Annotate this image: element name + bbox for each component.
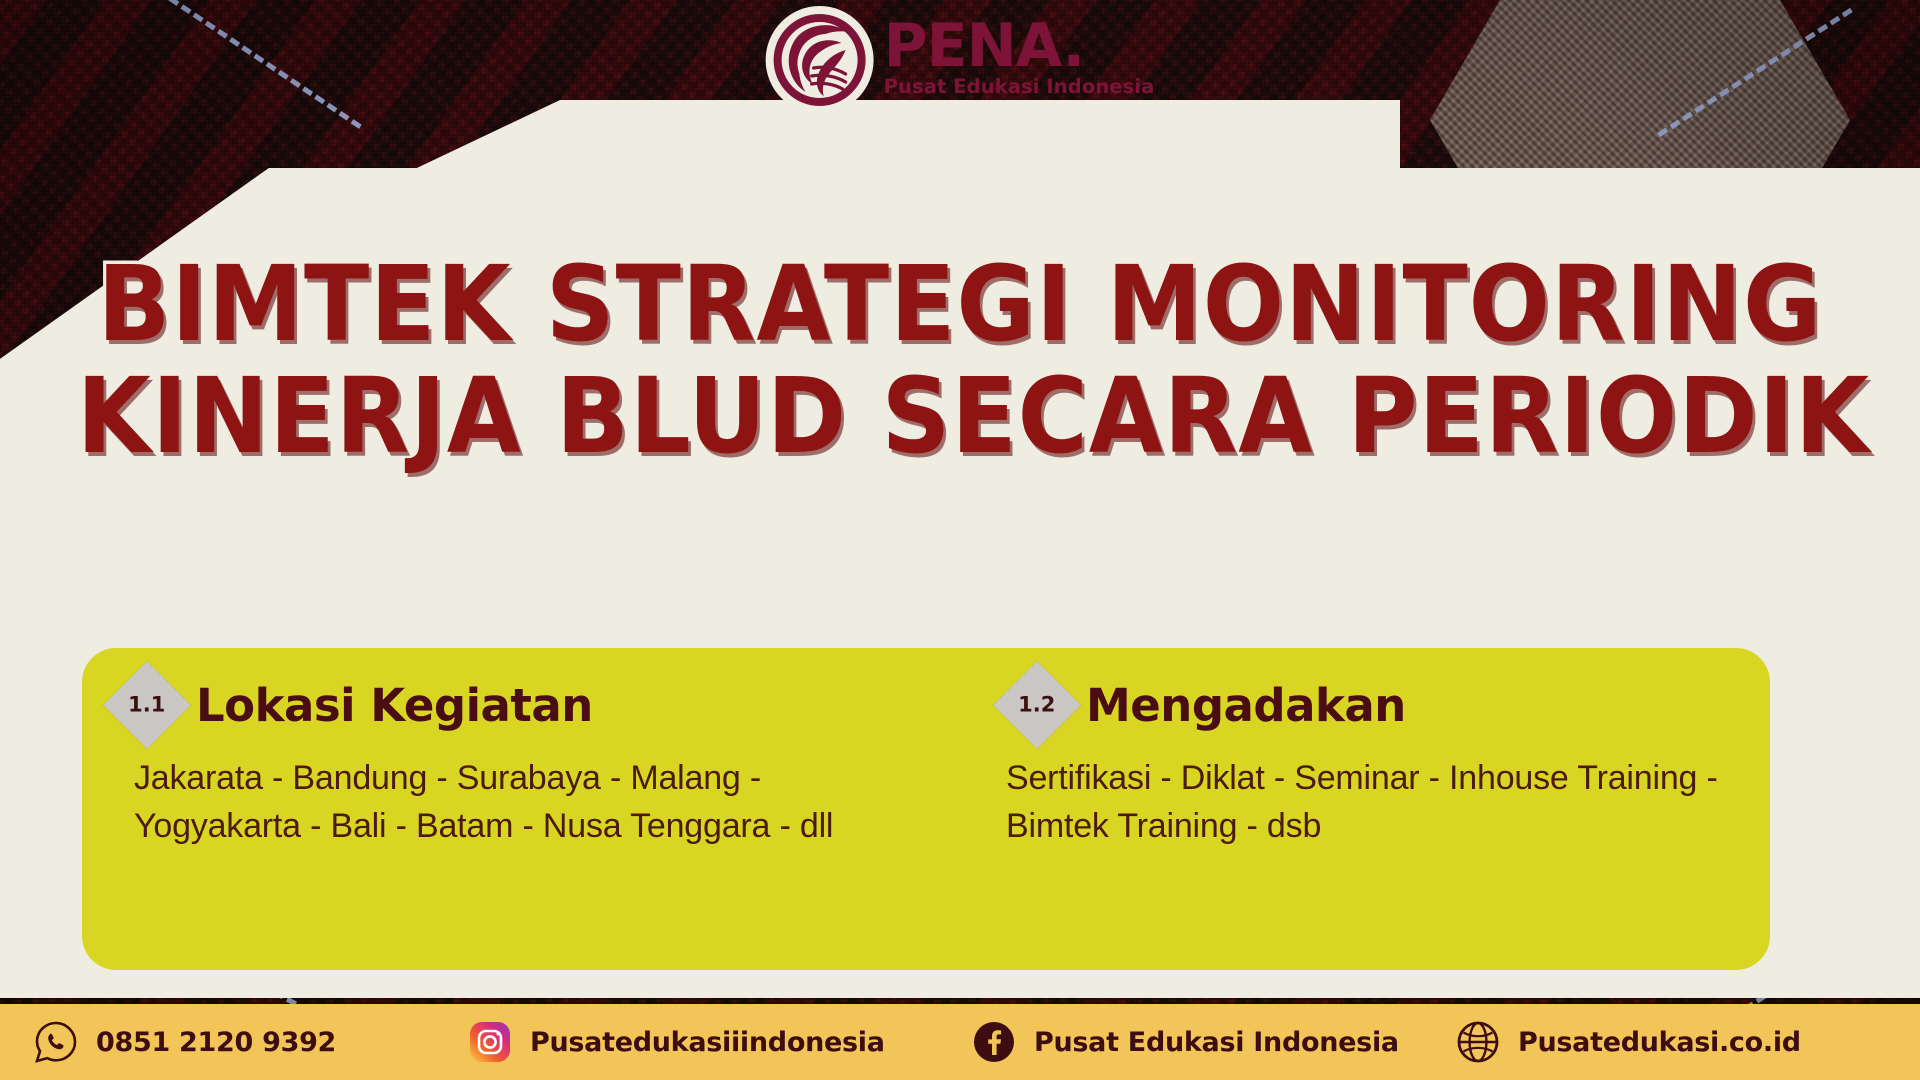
contact-whatsapp[interactable]: 0851 2120 9392 xyxy=(0,1020,434,1064)
contact-website[interactable]: Pusatedukasi.co.id xyxy=(1422,1020,1876,1064)
whatsapp-icon xyxy=(34,1020,78,1064)
globe-icon xyxy=(1456,1020,1500,1064)
info-column-mengadakan: 1.2 Mengadakan Sertifikasi - Diklat - Se… xyxy=(926,648,1770,970)
instagram-icon xyxy=(468,1020,512,1064)
contact-bar: 0851 2120 9392 Pusatedukasiiindonesia xyxy=(0,1004,1920,1080)
poster-canvas: PENA. Pusat Edukasi Indonesia BIMTEK STR… xyxy=(0,0,1920,1080)
info-column-body: Sertifikasi - Diklat - Seminar - Inhouse… xyxy=(1006,754,1736,851)
page-title: BIMTEK STRATEGI MONITORING KINERJA BLUD … xyxy=(0,252,1920,468)
contact-label: 0851 2120 9392 xyxy=(96,1027,336,1058)
contact-facebook[interactable]: Pusat Edukasi Indonesia xyxy=(938,1020,1422,1064)
contact-label: Pusatedukasi.co.id xyxy=(1518,1027,1801,1058)
contact-label: Pusat Edukasi Indonesia xyxy=(1034,1027,1399,1058)
brand-name: PENA. xyxy=(884,19,1155,74)
facebook-icon xyxy=(972,1020,1016,1064)
step-badge-1-1: 1.1 xyxy=(103,661,191,749)
contact-label: Pusatedukasiiindonesia xyxy=(530,1027,885,1058)
info-column-lokasi: 1.1 Lokasi Kegiatan Jakarata - Bandung -… xyxy=(82,648,926,970)
pena-feather-logo-icon xyxy=(766,6,874,114)
brand-logo: PENA. Pusat Edukasi Indonesia xyxy=(766,6,1155,114)
step-badge-label: 1.2 xyxy=(1018,693,1055,717)
step-badge-label: 1.1 xyxy=(128,693,165,717)
brand-tagline: Pusat Edukasi Indonesia xyxy=(884,77,1155,97)
info-column-title: Mengadakan xyxy=(1086,679,1406,732)
step-badge-1-2: 1.2 xyxy=(993,661,1081,749)
brand-wordmark: PENA. Pusat Edukasi Indonesia xyxy=(884,19,1155,101)
info-column-title: Lokasi Kegiatan xyxy=(196,679,593,732)
title-line-2: KINERJA BLUD SECARA PERIODIK xyxy=(77,364,1843,468)
info-card: 1.1 Lokasi Kegiatan Jakarata - Bandung -… xyxy=(82,648,1770,970)
info-column-header: 1.1 Lokasi Kegiatan xyxy=(116,674,892,736)
contact-instagram[interactable]: Pusatedukasiiindonesia xyxy=(434,1020,938,1064)
info-column-header: 1.2 Mengadakan xyxy=(1006,674,1736,736)
title-line-1: BIMTEK STRATEGI MONITORING xyxy=(77,252,1843,356)
info-column-body: Jakarata - Bandung - Surabaya - Malang -… xyxy=(134,754,892,851)
